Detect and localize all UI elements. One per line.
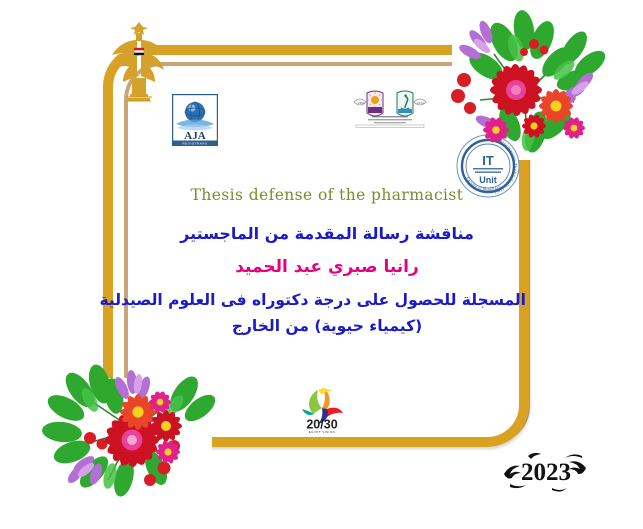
faculty-crests-logo: 1950 1972 <box>352 88 428 128</box>
egypt-vision-2030-logo: 20/30 EGYPT VISION <box>296 382 348 434</box>
floral-decoration-bottom-left <box>38 356 236 508</box>
svg-text:1972: 1972 <box>417 101 424 105</box>
announcement-text-block: Thesis defense of the pharmacist مناقشة … <box>128 186 526 335</box>
thesis-defense-poster: AJA REGISTRARS 1950 1972 <box>0 0 643 529</box>
year-mark-2023: 2023 <box>498 450 594 494</box>
announcement-line: مناقشة رسالة المقدمة من الماجستير <box>128 224 526 243</box>
aja-registrars-logo: AJA REGISTRARS <box>172 94 218 146</box>
candidate-name: رانيا صبري عبد الحميد <box>128 257 526 277</box>
aja-logo-subtitle: REGISTRARS <box>182 142 207 146</box>
it-unit-word: Unit <box>479 175 497 185</box>
year-text: 2023 <box>521 459 571 486</box>
specialty-line: (كيمياء حيوية) من الخارج <box>128 317 526 335</box>
svg-text:1950: 1950 <box>358 101 365 105</box>
floral-decoration-top-right <box>424 4 630 160</box>
vision-2030-caption: EGYPT VISION <box>309 430 335 434</box>
degree-line: المسجلة للحصول على درجة دكتوراه فى العلو… <box>128 291 526 309</box>
egypt-eagle-icon <box>108 18 170 104</box>
aja-logo-text: AJA <box>184 130 205 142</box>
